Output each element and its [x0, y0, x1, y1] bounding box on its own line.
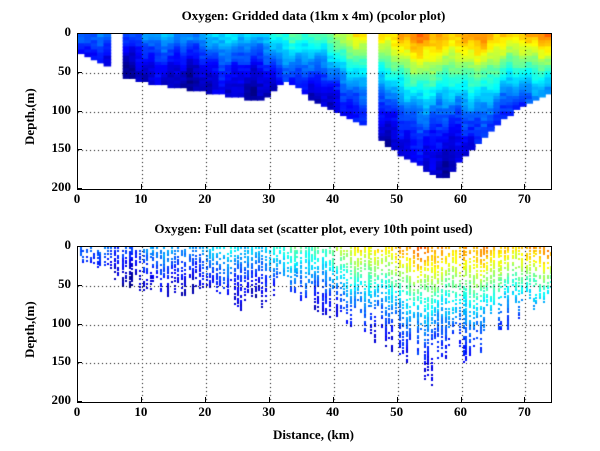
gridded-xtick-mark-4 — [333, 184, 334, 189]
gridded-xtick-mark-5 — [397, 184, 398, 189]
gridded-ytick-label-1: 50 — [31, 63, 71, 79]
gridded-xtick-label-7: 70 — [504, 191, 544, 207]
gridded-xtick-mark-7 — [524, 184, 525, 189]
gridded-xtick-label-4: 40 — [313, 191, 353, 207]
scatter-xtick-label-0: 0 — [57, 404, 97, 420]
scatter-xtick-label-3: 30 — [249, 404, 289, 420]
scatter-xtick-label-4: 40 — [313, 404, 353, 420]
gridded-plot-title: Oxygen: Gridded data (1km x 4m) (pcolor … — [77, 8, 550, 24]
scatter-xtick-mark-6 — [461, 397, 462, 402]
scatter-ytick-label-3: 150 — [31, 353, 71, 369]
gridded-heatmap-canvas — [78, 34, 551, 189]
scatter-xtick-label-7: 70 — [504, 404, 544, 420]
scatter-xtick-mark-1 — [141, 397, 142, 402]
gridded-ytick-mark-2 — [77, 111, 82, 112]
gridded-xtick-mark-6 — [461, 184, 462, 189]
gridded-xtick-label-6: 60 — [441, 191, 481, 207]
scatter-ytick-mark-2 — [77, 324, 82, 325]
scatter-xlabel: Distance, (km) — [77, 427, 550, 443]
scatter-xtick-mark-3 — [269, 397, 270, 402]
gridded-xtick-label-3: 30 — [249, 191, 289, 207]
gridded-xtick-label-0: 0 — [57, 191, 97, 207]
scatter-xtick-mark-5 — [397, 397, 398, 402]
scatter-xtick-label-1: 10 — [121, 404, 161, 420]
gridded-xtick-mark-1 — [141, 184, 142, 189]
gridded-axes — [77, 33, 552, 190]
scatter-ytick-label-0: 0 — [31, 237, 71, 253]
gridded-ytick-label-3: 150 — [31, 140, 71, 156]
gridded-ytick-mark-1 — [77, 72, 82, 73]
scatter-ytick-label-2: 100 — [31, 315, 71, 331]
scatter-xtick-label-5: 50 — [377, 404, 417, 420]
gridded-xtick-label-5: 50 — [377, 191, 417, 207]
scatter-xtick-mark-2 — [205, 397, 206, 402]
gridded-xtick-label-2: 20 — [185, 191, 225, 207]
gridded-ytick-mark-3 — [77, 149, 82, 150]
figure-canvas: Oxygen: Gridded data (1km x 4m) (pcolor … — [0, 0, 600, 451]
scatter-xtick-mark-0 — [77, 397, 78, 402]
gridded-xtick-mark-2 — [205, 184, 206, 189]
scatter-points-canvas — [78, 247, 551, 402]
gridded-xtick-mark-0 — [77, 184, 78, 189]
scatter-xtick-mark-7 — [524, 397, 525, 402]
gridded-xtick-mark-3 — [269, 184, 270, 189]
scatter-axes — [77, 246, 552, 403]
scatter-ytick-label-1: 50 — [31, 276, 71, 292]
scatter-ytick-mark-0 — [77, 246, 82, 247]
gridded-xtick-label-1: 10 — [121, 191, 161, 207]
scatter-xtick-label-6: 60 — [441, 404, 481, 420]
gridded-ytick-mark-0 — [77, 33, 82, 34]
gridded-ytick-label-2: 100 — [31, 102, 71, 118]
scatter-xtick-mark-4 — [333, 397, 334, 402]
scatter-ytick-mark-3 — [77, 362, 82, 363]
scatter-plot-title: Oxygen: Full data set (scatter plot, eve… — [77, 221, 550, 237]
scatter-xtick-label-2: 20 — [185, 404, 225, 420]
scatter-ytick-mark-1 — [77, 285, 82, 286]
gridded-ytick-label-0: 0 — [31, 24, 71, 40]
